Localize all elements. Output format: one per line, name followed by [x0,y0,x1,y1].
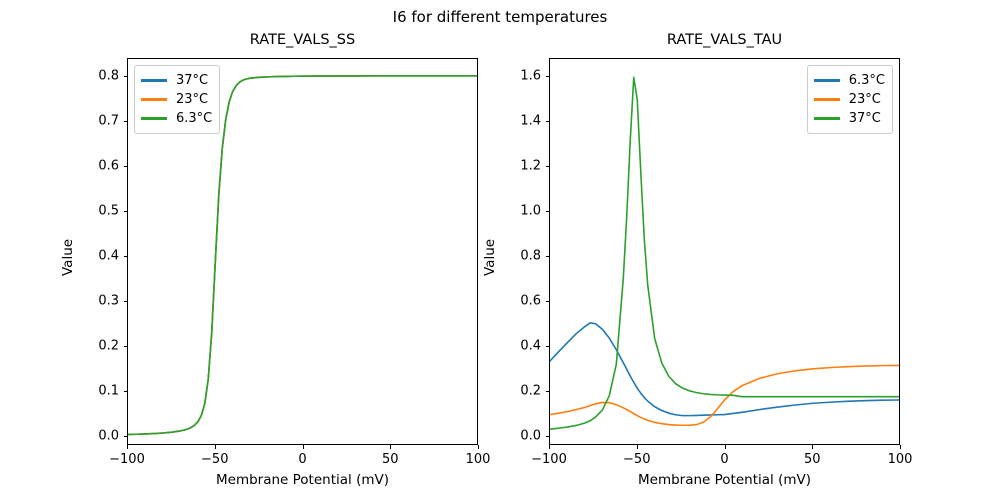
y-tickmark [124,76,128,77]
x-tick-label: 0 [720,452,728,467]
legend-entry: 37°C [814,109,885,128]
y-tick-label: 0.6 [79,159,119,174]
legend-color-swatch [814,79,840,81]
y-tickmark [124,301,128,302]
x-tick-label: 50 [382,452,399,467]
y-tickmark [124,121,128,122]
y-tick-label: 1.2 [501,159,541,174]
x-tick-label: −50 [201,452,228,467]
y-tick-label: 0.5 [79,204,119,219]
legend-left: 37°C23°C6.3°C [134,65,220,134]
y-tickmark [124,256,128,257]
y-tickmark [546,76,550,77]
y-tick-label: 0.8 [501,248,541,263]
y-tick-label: 0.4 [501,338,541,353]
legend-color-swatch [814,98,840,100]
y-tick-label: 0.0 [501,428,541,443]
legend-label: 23°C [176,92,208,107]
legend-label: 6.3°C [849,73,885,88]
y-tick-label: 1.0 [501,204,541,219]
y-tick-label: 1.4 [501,114,541,129]
legend-right: 6.3°C23°C37°C [807,65,893,134]
y-tickmark [124,211,128,212]
y-tick-label: 0.3 [79,293,119,308]
legend-entry: 37°C [141,71,212,90]
x-tickmark [549,445,550,449]
subplot-rate-vals-ss: RATE_VALS_SS −100−500501000.00.10.20.30.… [127,58,478,445]
y-tickmark [124,346,128,347]
x-tickmark [478,445,479,449]
y-tickmark [546,436,550,437]
x-tick-label: −100 [531,452,567,467]
x-tickmark [303,445,304,449]
matplotlib-figure: I6 for different temperatures RATE_VALS_… [0,0,1000,500]
legend-color-swatch [141,98,167,100]
legend-label: 6.3°C [176,111,212,126]
y-tick-label: 0.1 [79,383,119,398]
figure-suptitle: I6 for different temperatures [0,8,1000,26]
y-tickmark [124,391,128,392]
x-tickmark [390,445,391,449]
legend-entry: 6.3°C [141,109,212,128]
subplot-left-title: RATE_VALS_SS [127,32,478,48]
y-tick-label: 0.0 [79,428,119,443]
y-tickmark [124,436,128,437]
legend-entry: 23°C [814,90,885,109]
subplot-rate-vals-tau: RATE_VALS_TAU −100−500501000.00.20.40.60… [549,58,900,445]
legend-label: 23°C [849,92,881,107]
y-tick-label: 1.6 [501,69,541,84]
x-tickmark [812,445,813,449]
y-tickmark [546,211,550,212]
legend-label: 37°C [176,73,208,88]
y-tickmark [546,346,550,347]
x-tick-label: −50 [623,452,650,467]
x-tickmark [127,445,128,449]
subplot-right-title: RATE_VALS_TAU [549,32,900,48]
legend-color-swatch [141,79,167,81]
y-tickmark [124,166,128,167]
legend-entry: 23°C [141,90,212,109]
y-tickmark [546,256,550,257]
xlabel-right: Membrane Potential (mV) [549,472,900,488]
x-tickmark [900,445,901,449]
y-tick-label: 0.7 [79,114,119,129]
x-tickmark [637,445,638,449]
y-tickmark [546,391,550,392]
legend-label: 37°C [849,111,881,126]
x-tick-label: −100 [109,452,145,467]
ylabel-left: Value [60,239,76,276]
x-tick-label: 100 [888,452,913,467]
ylabel-right: Value [482,239,498,276]
y-tick-label: 0.4 [79,248,119,263]
x-tickmark [215,445,216,449]
y-tickmark [546,121,550,122]
legend-color-swatch [814,117,840,119]
legend-color-swatch [141,117,167,119]
x-tickmark [725,445,726,449]
y-tick-label: 0.2 [501,383,541,398]
y-tick-label: 0.8 [79,69,119,84]
x-tick-label: 50 [804,452,821,467]
xlabel-left: Membrane Potential (mV) [127,472,478,488]
y-tick-label: 0.2 [79,338,119,353]
y-tick-label: 0.6 [501,293,541,308]
x-tick-label: 100 [466,452,491,467]
legend-entry: 6.3°C [814,71,885,90]
y-tickmark [546,301,550,302]
y-tickmark [546,166,550,167]
x-tick-label: 0 [298,452,306,467]
